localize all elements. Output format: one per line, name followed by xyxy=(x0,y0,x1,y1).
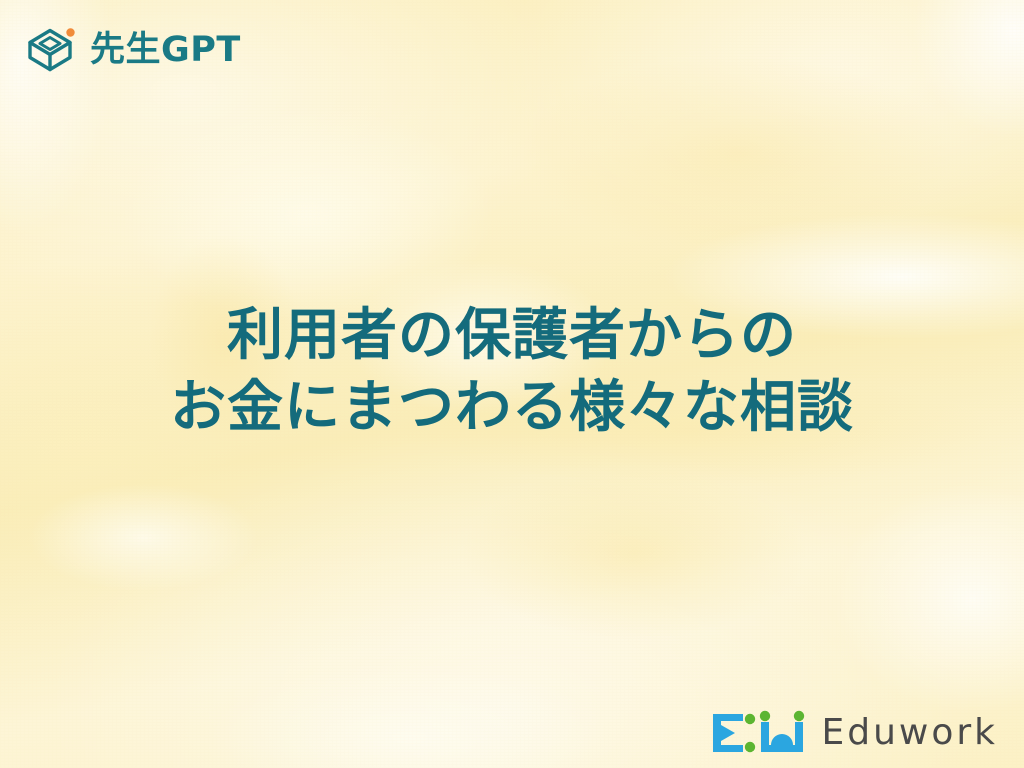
slide-title-line-1: 利用者の保護者からの xyxy=(0,300,1024,372)
slide-title: 利用者の保護者からの お金にまつわる様々な相談 xyxy=(0,300,1024,443)
brand-logo: 先生GPT xyxy=(26,24,241,76)
graduation-cap-icon xyxy=(26,24,80,76)
slide-title-line-2: お金にまつわる様々な相談 xyxy=(0,372,1024,444)
brand-wordmark: 先生GPT xyxy=(90,33,241,68)
eduwork-logo: Eduwork xyxy=(711,710,998,756)
eduwork-wordmark: Eduwork xyxy=(821,715,998,751)
presentation-slide: 先生GPT 利用者の保護者からの お金にまつわる様々な相談 xyxy=(0,0,1024,768)
eduwork-logo-mark xyxy=(711,710,807,756)
